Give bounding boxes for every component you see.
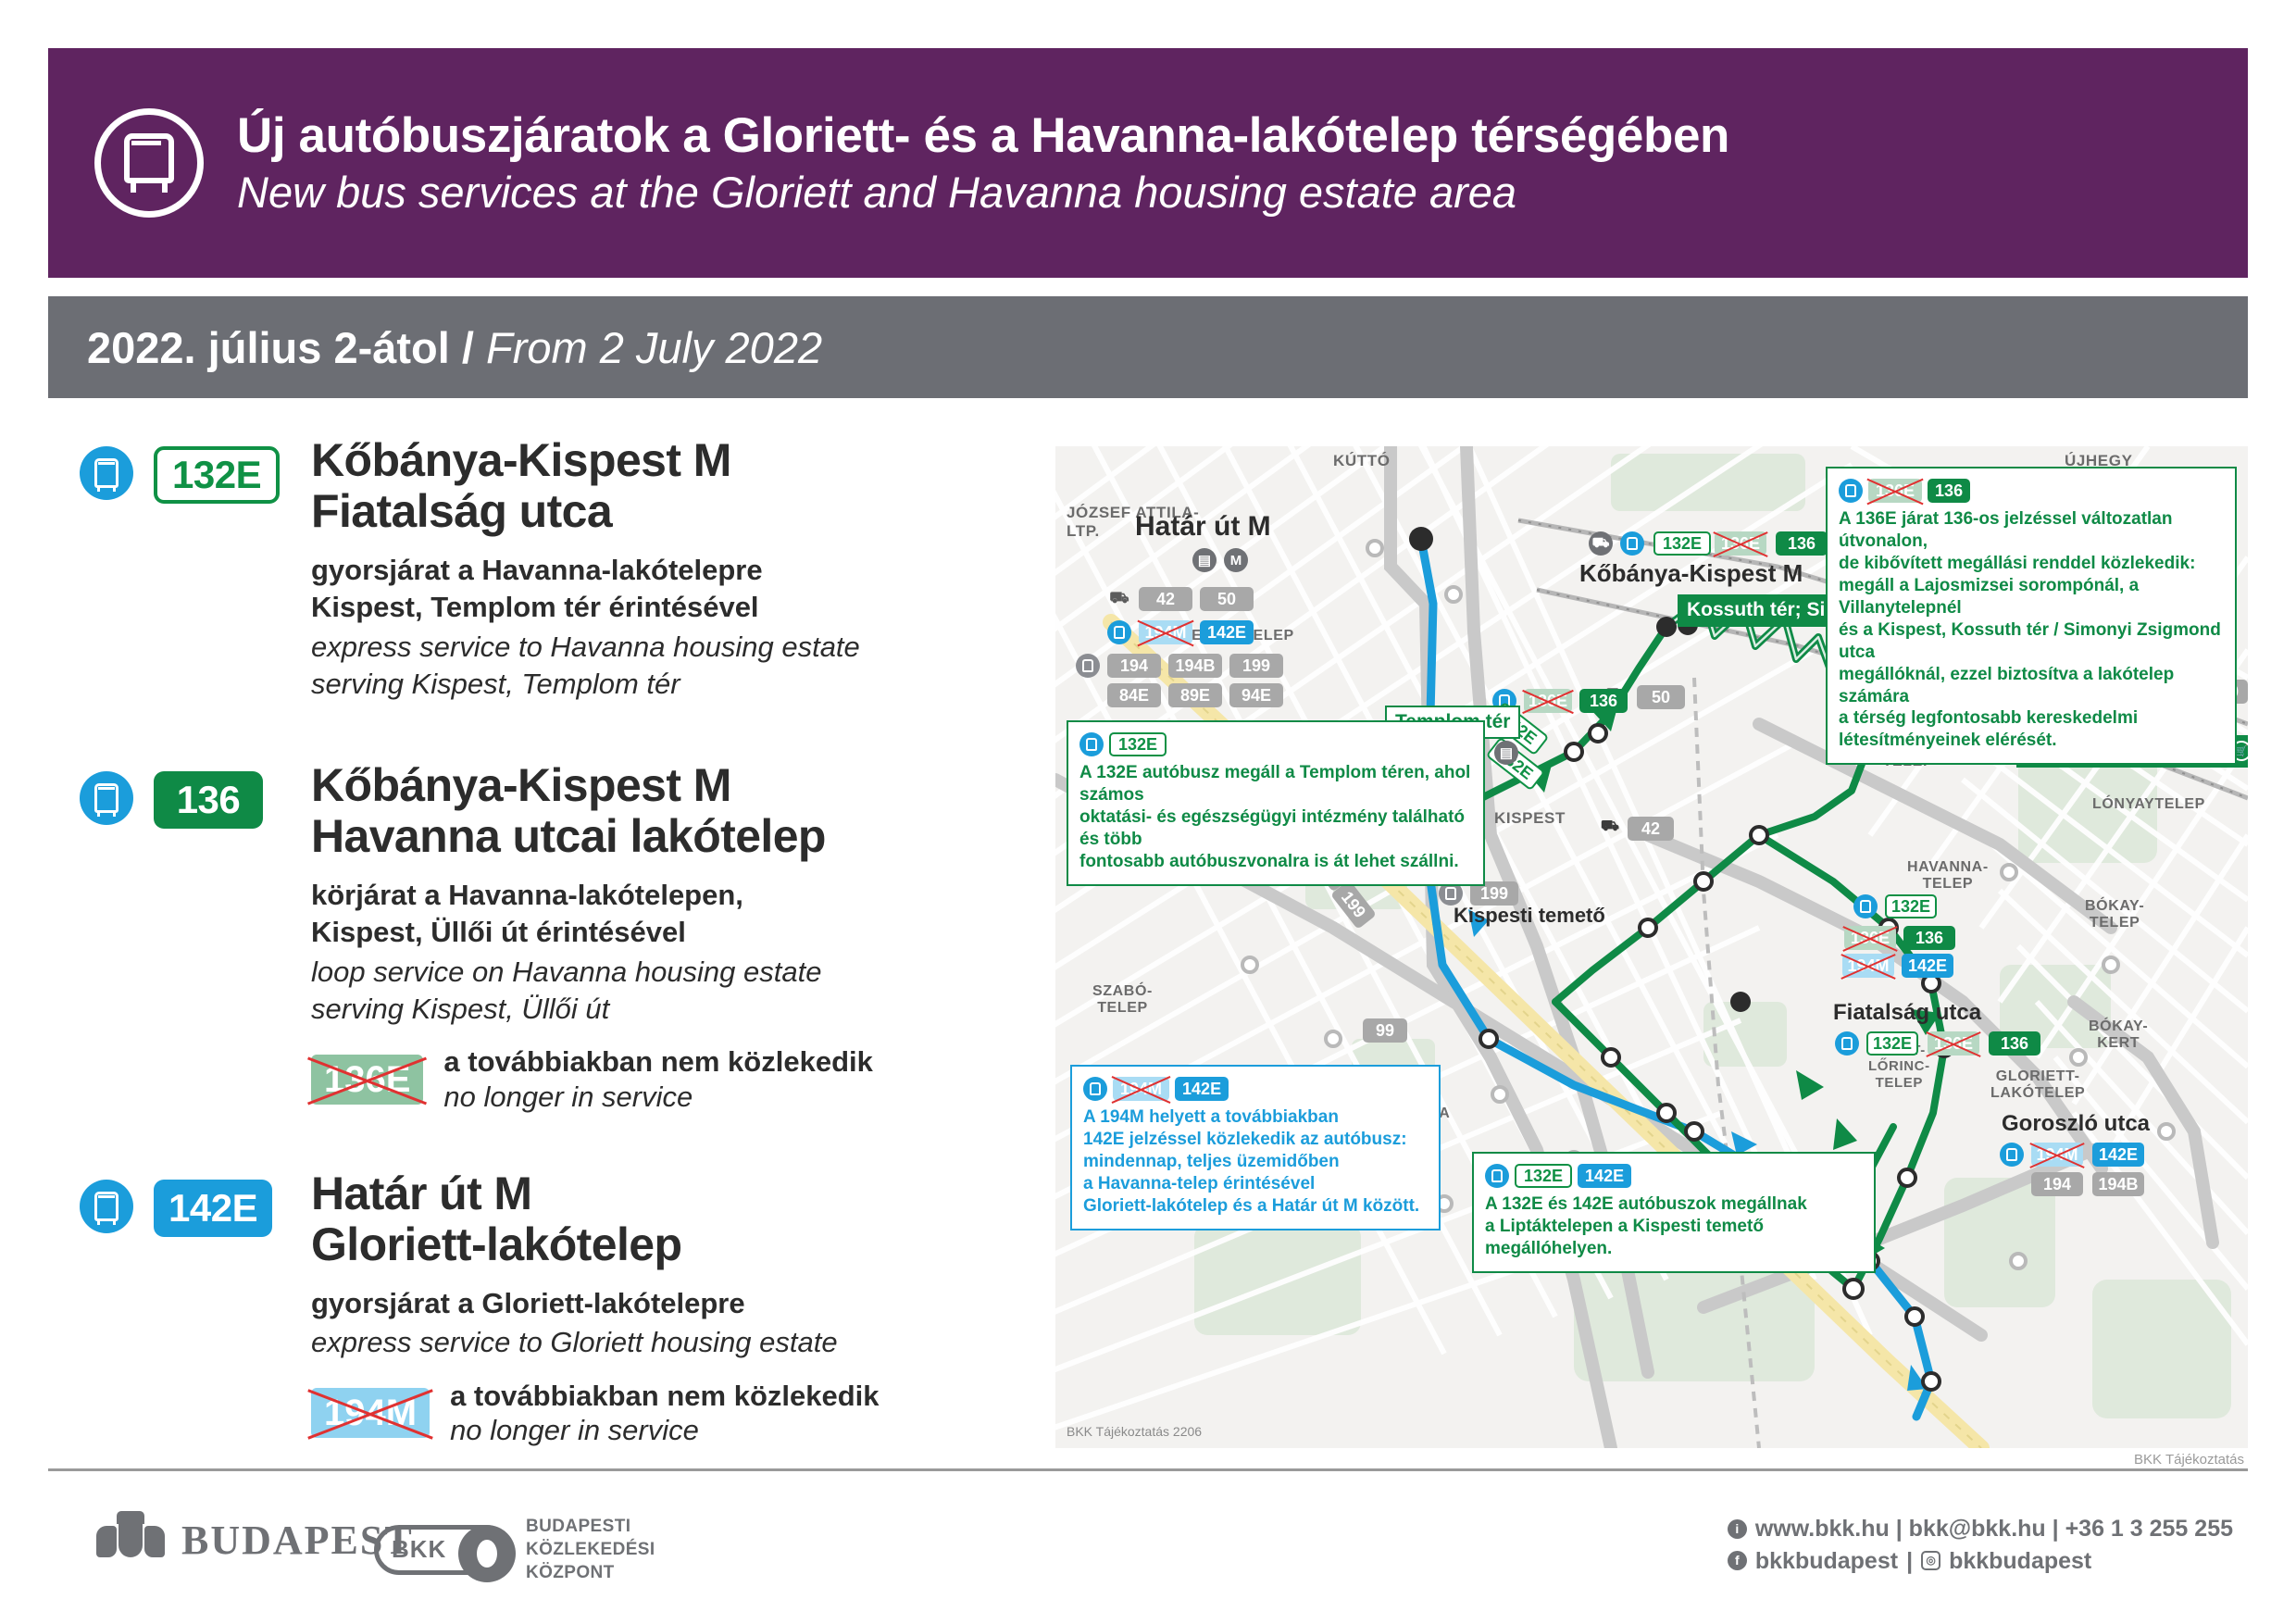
bkk-name-line3: KÖZPONT bbox=[526, 1561, 655, 1584]
map-callout-liptaktelep: 132E 142E A 132E és 142E autóbuszok megá… bbox=[1472, 1152, 1876, 1273]
callout-line: A 194M helyett a továbbiakban bbox=[1083, 1106, 1428, 1129]
bus-icon bbox=[1839, 479, 1863, 503]
map-place-fiatalsag-utca: Fiatalság utca bbox=[1833, 1000, 1981, 1026]
map-place-kispesti-temeto: Kispesti temető bbox=[1454, 904, 1605, 928]
callout-line: megállóknál, ezzel biztosítva a lakótele… bbox=[1839, 664, 2224, 708]
map-label-havanna-telep: HAVANNA- TELEP bbox=[1907, 859, 1989, 893]
callout-line: a térség legfontosabb kereskedelmi bbox=[1839, 707, 2224, 730]
callout-line: fontosabb autóbuszvonalra is át lehet sz… bbox=[1079, 851, 1472, 873]
budapest-logo: BUDAPEST bbox=[96, 1511, 414, 1568]
route-title-line2: Gloriett-lakótelep bbox=[311, 1219, 1015, 1270]
bkk-mark-icon: BKK bbox=[374, 1525, 511, 1575]
bus-icon bbox=[1079, 732, 1104, 756]
callout-line: a Havanna-telep érintésével bbox=[1083, 1173, 1428, 1195]
map-place-hatar-ut-m: Határ út M bbox=[1135, 511, 1271, 543]
map-chip-142e[interactable]: 142E bbox=[1200, 620, 1254, 644]
map-place-kobanya-kispest-m: Kőbánya-Kispest M bbox=[1579, 559, 1803, 588]
bkk-name-line2: KÖZLEKEDÉSI bbox=[526, 1538, 655, 1561]
map-label-bokay-kert: BÓKAY- KERT bbox=[2089, 1018, 2148, 1053]
map-callout-132e: 132E A 132E autóbusz megáll a Templom té… bbox=[1067, 720, 1485, 886]
footer-divider bbox=[48, 1468, 2248, 1471]
map-chip-84e[interactable]: 84E bbox=[1107, 683, 1161, 707]
facebook-icon: f bbox=[1728, 1551, 1747, 1570]
map-chip-142e-goroszlo[interactable]: 142E bbox=[2092, 1143, 2144, 1167]
map-chip-132e-havanna[interactable]: 132E bbox=[1885, 894, 1937, 918]
callout-chip-136[interactable]: 136 bbox=[1928, 479, 1970, 503]
route-desc-en-2: serving Kispest, Templom tér bbox=[311, 666, 1015, 703]
callout-line: Gloriett-lakótelep és a Határ út M közöt… bbox=[1083, 1195, 1428, 1218]
bus-icon bbox=[2000, 1143, 2024, 1167]
bus-in-circle-icon bbox=[94, 108, 204, 218]
map-chip-132e-fiatalsag[interactable]: 132E bbox=[1866, 1031, 1918, 1056]
callout-line: oktatási- és egészségügyi intézmény talá… bbox=[1079, 806, 1472, 851]
route-title-line2: Fiatalság utca bbox=[311, 486, 1015, 537]
route-desc-hu-1: körjárat a Havanna-lakótelepen, bbox=[311, 877, 1015, 914]
contact-separator: | bbox=[1906, 1545, 1913, 1578]
budapest-crest-icon bbox=[96, 1511, 165, 1568]
map-label-szabo-telep: SZABÓ- TELEP bbox=[1092, 983, 1153, 1018]
map-chip-194-goroszlo[interactable]: 194 bbox=[2031, 1172, 2083, 1196]
bus-icon bbox=[1083, 1077, 1107, 1101]
tram-mode-icon: ⛟ bbox=[1598, 815, 1622, 839]
route-entry-136: 136 Kőbánya-Kispest M Havanna utcai lakó… bbox=[80, 760, 1015, 1115]
rail-mode-icon: ⛟ bbox=[1589, 531, 1613, 556]
bkk-full-name: BUDAPESTI KÖZLEKEDÉSI KÖZPONT bbox=[526, 1515, 655, 1584]
callout-line: de kibővített megállási renddel közleked… bbox=[1839, 553, 2224, 575]
callout-chip-136e-crossed[interactable]: 136E bbox=[1868, 479, 1922, 503]
callout-line: A 132E autóbusz megáll a Templom téren, … bbox=[1079, 762, 1472, 806]
callout-line: és a Kispest, Kossuth tér / Simonyi Zsig… bbox=[1839, 619, 2224, 664]
route-title-line2: Havanna utcai lakótelep bbox=[311, 811, 1015, 862]
callout-chip-132e[interactable]: 132E bbox=[1109, 732, 1167, 756]
route-badge-142e[interactable]: 142E bbox=[154, 1180, 272, 1237]
map-chip-42[interactable]: 42 bbox=[1139, 587, 1192, 611]
crossed-badge-194m: 194M bbox=[311, 1388, 430, 1438]
map-chip-50[interactable]: 50 bbox=[1200, 587, 1254, 611]
map-label-gloriett-lakotelep: GLORIETT- LAKÓTELEP bbox=[1990, 1068, 2085, 1103]
map-chip-199[interactable]: 199 bbox=[1229, 654, 1283, 678]
bus-icon bbox=[1107, 620, 1131, 644]
map-chip-194[interactable]: 194 bbox=[1107, 654, 1161, 678]
callout-line: létesítményeinek elérését. bbox=[1839, 730, 2224, 752]
discontinued-notice-136e: 136E a továbbiakban nem közlekedik no lo… bbox=[311, 1044, 1015, 1115]
map-chip-142e-havanna[interactable]: 142E bbox=[1902, 954, 1953, 978]
bus-icon bbox=[80, 1180, 133, 1233]
route-title-line1: Határ út M bbox=[311, 1168, 1015, 1219]
contact-instagram[interactable]: bkkbudapest bbox=[1949, 1545, 2091, 1578]
callout-line: A 136E járat 136-os jelzéssel változatla… bbox=[1839, 508, 2224, 553]
route-entry-142e: 142E Határ út M Gloriett-lakótelep gyors… bbox=[80, 1168, 1015, 1448]
map-chip-194m-crossed[interactable]: 194M bbox=[1139, 620, 1192, 644]
bus-icon bbox=[1620, 531, 1644, 556]
bus-icon bbox=[1485, 1164, 1509, 1188]
crossed-badge-136e: 136E bbox=[311, 1055, 423, 1105]
map-chip-42-mid[interactable]: 42 bbox=[1628, 817, 1674, 841]
map-chip-136e-crossed-havanna[interactable]: 136E bbox=[1844, 926, 1896, 950]
metro-mode-icon: M bbox=[1224, 548, 1248, 572]
map-label-kutto: KÚTTÓ bbox=[1333, 452, 1391, 470]
route-desc-en-1: express service to Gloriett housing esta… bbox=[311, 1324, 1015, 1361]
callout-chip-194m-crossed[interactable]: 194M bbox=[1113, 1077, 1169, 1101]
infographic-page: Új autóbuszjáratok a Gloriett- és a Hava… bbox=[0, 0, 2296, 1624]
callout-chip-132e-lipt[interactable]: 132E bbox=[1515, 1164, 1572, 1188]
bus-icon bbox=[80, 771, 133, 825]
route-entry-132e: 132E Kőbánya-Kispest M Fiatalság utca gy… bbox=[80, 435, 1015, 703]
callout-chip-142e[interactable]: 142E bbox=[1175, 1077, 1229, 1101]
discontinued-notice-194m: 194M a továbbiakban nem közlekedik no lo… bbox=[311, 1379, 1015, 1449]
date-separator: / bbox=[450, 323, 486, 372]
callout-line: 142E jelzéssel közlekedik az autóbusz: bbox=[1083, 1129, 1428, 1151]
contact-line-1[interactable]: www.bkk.hu | bkk@bkk.hu | +36 1 3 255 25… bbox=[1755, 1513, 2233, 1545]
bus-mode-icon: ▤ bbox=[1192, 548, 1217, 572]
route-title-line1: Kőbánya-Kispest M bbox=[311, 435, 1015, 486]
discontinued-text-hu: a továbbiakban nem közlekedik bbox=[450, 1379, 879, 1414]
bkk-mark-text: BKK bbox=[392, 1535, 446, 1564]
map-chip-194b-goroszlo[interactable]: 194B bbox=[2092, 1172, 2144, 1196]
date-en: From 2 July 2022 bbox=[486, 323, 822, 372]
bkk-name-line1: BUDAPESTI bbox=[526, 1515, 655, 1538]
map-chip-50-mid[interactable]: 50 bbox=[1637, 685, 1685, 709]
callout-line: a Liptáktelepen a Kispesti temető megáll… bbox=[1485, 1216, 1863, 1260]
map-chip-136[interactable]: 136 bbox=[1776, 531, 1828, 556]
route-map[interactable]: KÚTTÓ ÚJHEGY JÓZSEF ATTILA- LTP. WEKERLE… bbox=[1055, 446, 2248, 1448]
map-place-goroszlo-utca: Goroszló utca bbox=[2002, 1111, 2150, 1137]
map-chip-136e-crossed-mid[interactable]: 136E bbox=[1524, 689, 1572, 713]
route-desc-en-1: loop service on Havanna housing estate bbox=[311, 954, 1015, 991]
route-desc-hu-1: gyorsjárat a Gloriett-lakótelepre bbox=[311, 1285, 1015, 1322]
map-chip-194b[interactable]: 194B bbox=[1168, 654, 1222, 678]
map-chip-99[interactable]: 99 bbox=[1363, 1018, 1407, 1043]
route-title-line1: Kőbánya-Kispest M bbox=[311, 760, 1015, 811]
contact-facebook[interactable]: bkkbudapest bbox=[1755, 1545, 1898, 1578]
header-title-en: New bus services at the Gloriett and Hav… bbox=[237, 169, 1729, 218]
bkk-mark-dot-icon bbox=[458, 1525, 516, 1582]
route-desc-en-2: serving Kispest, Üllői út bbox=[311, 991, 1015, 1028]
map-chip-94e[interactable]: 94E bbox=[1229, 683, 1283, 707]
bus-icon bbox=[80, 446, 133, 500]
header-title-hu: Új autóbuszjáratok a Gloriett- és a Hava… bbox=[237, 108, 1729, 163]
footer: BUDAPEST BKK BUDAPESTI KÖZLEKEDÉSI KÖZPO… bbox=[48, 1491, 2248, 1593]
map-chip-132e[interactable]: 132E bbox=[1653, 531, 1711, 556]
bus-icon bbox=[1853, 894, 1878, 918]
map-credit: BKK Tájékoztatás 2206 bbox=[1067, 1424, 1202, 1439]
callout-line: megáll a Lajosmizsei sorompónál, a Villa… bbox=[1839, 575, 2224, 619]
route-desc-hu-2: Kispest, Üllői út érintésével bbox=[311, 914, 1015, 951]
header-banner: Új autóbuszjáratok a Gloriett- és a Hava… bbox=[48, 48, 2248, 278]
route-desc-hu-1: gyorsjárat a Havanna-lakótelepre bbox=[311, 552, 1015, 589]
date-hu: 2022. július 2-átol bbox=[87, 323, 450, 372]
discontinued-text-en: no longer in service bbox=[443, 1080, 872, 1115]
map-chip-194m-crossed-havanna[interactable]: 194M bbox=[1842, 954, 1894, 978]
rail-mode-icon-mid: ▤ bbox=[1494, 741, 1518, 765]
map-label-kispest: KISPEST bbox=[1494, 809, 1566, 828]
date-bar: 2022. július 2-átol / From 2 July 2022 bbox=[48, 296, 2248, 398]
map-callout-142e: 194M 142E A 194M helyett a továbbiakban … bbox=[1070, 1065, 1441, 1230]
map-callout-136: 136E 136 A 136E járat 136-os jelzéssel v… bbox=[1826, 467, 2237, 765]
info-icon: i bbox=[1728, 1519, 1747, 1539]
map-chip-89e[interactable]: 89E bbox=[1168, 683, 1222, 707]
route-desc-hu-2: Kispest, Templom tér érintésével bbox=[311, 589, 1015, 626]
map-chip-136-havanna[interactable]: 136 bbox=[1903, 926, 1955, 950]
map-chip-136e-crossed[interactable]: 136E bbox=[1715, 531, 1766, 556]
map-chip-136-fiatalsag[interactable]: 136 bbox=[1989, 1031, 2040, 1056]
discontinued-text-en: no longer in service bbox=[450, 1413, 879, 1448]
callout-chip-142e-lipt[interactable]: 142E bbox=[1578, 1164, 1631, 1188]
footer-contact: i www.bkk.hu | bkk@bkk.hu | +36 1 3 255 … bbox=[1728, 1513, 2233, 1577]
map-label-bokay-telep: BÓKAY- TELEP bbox=[2085, 898, 2144, 932]
discontinued-text-hu: a továbbiakban nem közlekedik bbox=[443, 1044, 872, 1080]
map-credit-right: BKK Tájékoztatás bbox=[2134, 1452, 2244, 1468]
bkk-logo: BKK BUDAPESTI KÖZLEKEDÉSI KÖZPONT bbox=[374, 1515, 655, 1584]
route-list: 132E Kőbánya-Kispest M Fiatalság utca gy… bbox=[80, 435, 1015, 1461]
bus-icon bbox=[1835, 1031, 1859, 1056]
route-badge-132e[interactable]: 132E bbox=[154, 446, 280, 504]
map-chip-194m-crossed-goroszlo[interactable]: 194M bbox=[2031, 1143, 2083, 1167]
route-desc-en-1: express service to Havanna housing estat… bbox=[311, 629, 1015, 666]
route-badge-136[interactable]: 136 bbox=[154, 771, 263, 829]
callout-line: mindennap, teljes üzemidőben bbox=[1083, 1151, 1428, 1173]
callout-line: A 132E és 142E autóbuszok megállnak bbox=[1485, 1193, 1863, 1216]
map-chip-136-mid[interactable]: 136 bbox=[1579, 689, 1628, 713]
map-label-lonyaytelep: LÓNYAYTELEP bbox=[2092, 796, 2205, 813]
bus-icon bbox=[1076, 654, 1100, 678]
tram-mode-icon: ⛟ bbox=[1107, 587, 1131, 611]
instagram-icon: ◎ bbox=[1921, 1551, 1940, 1570]
map-chip-136e-crossed-fiatalsag[interactable]: 136E bbox=[1928, 1031, 1979, 1056]
